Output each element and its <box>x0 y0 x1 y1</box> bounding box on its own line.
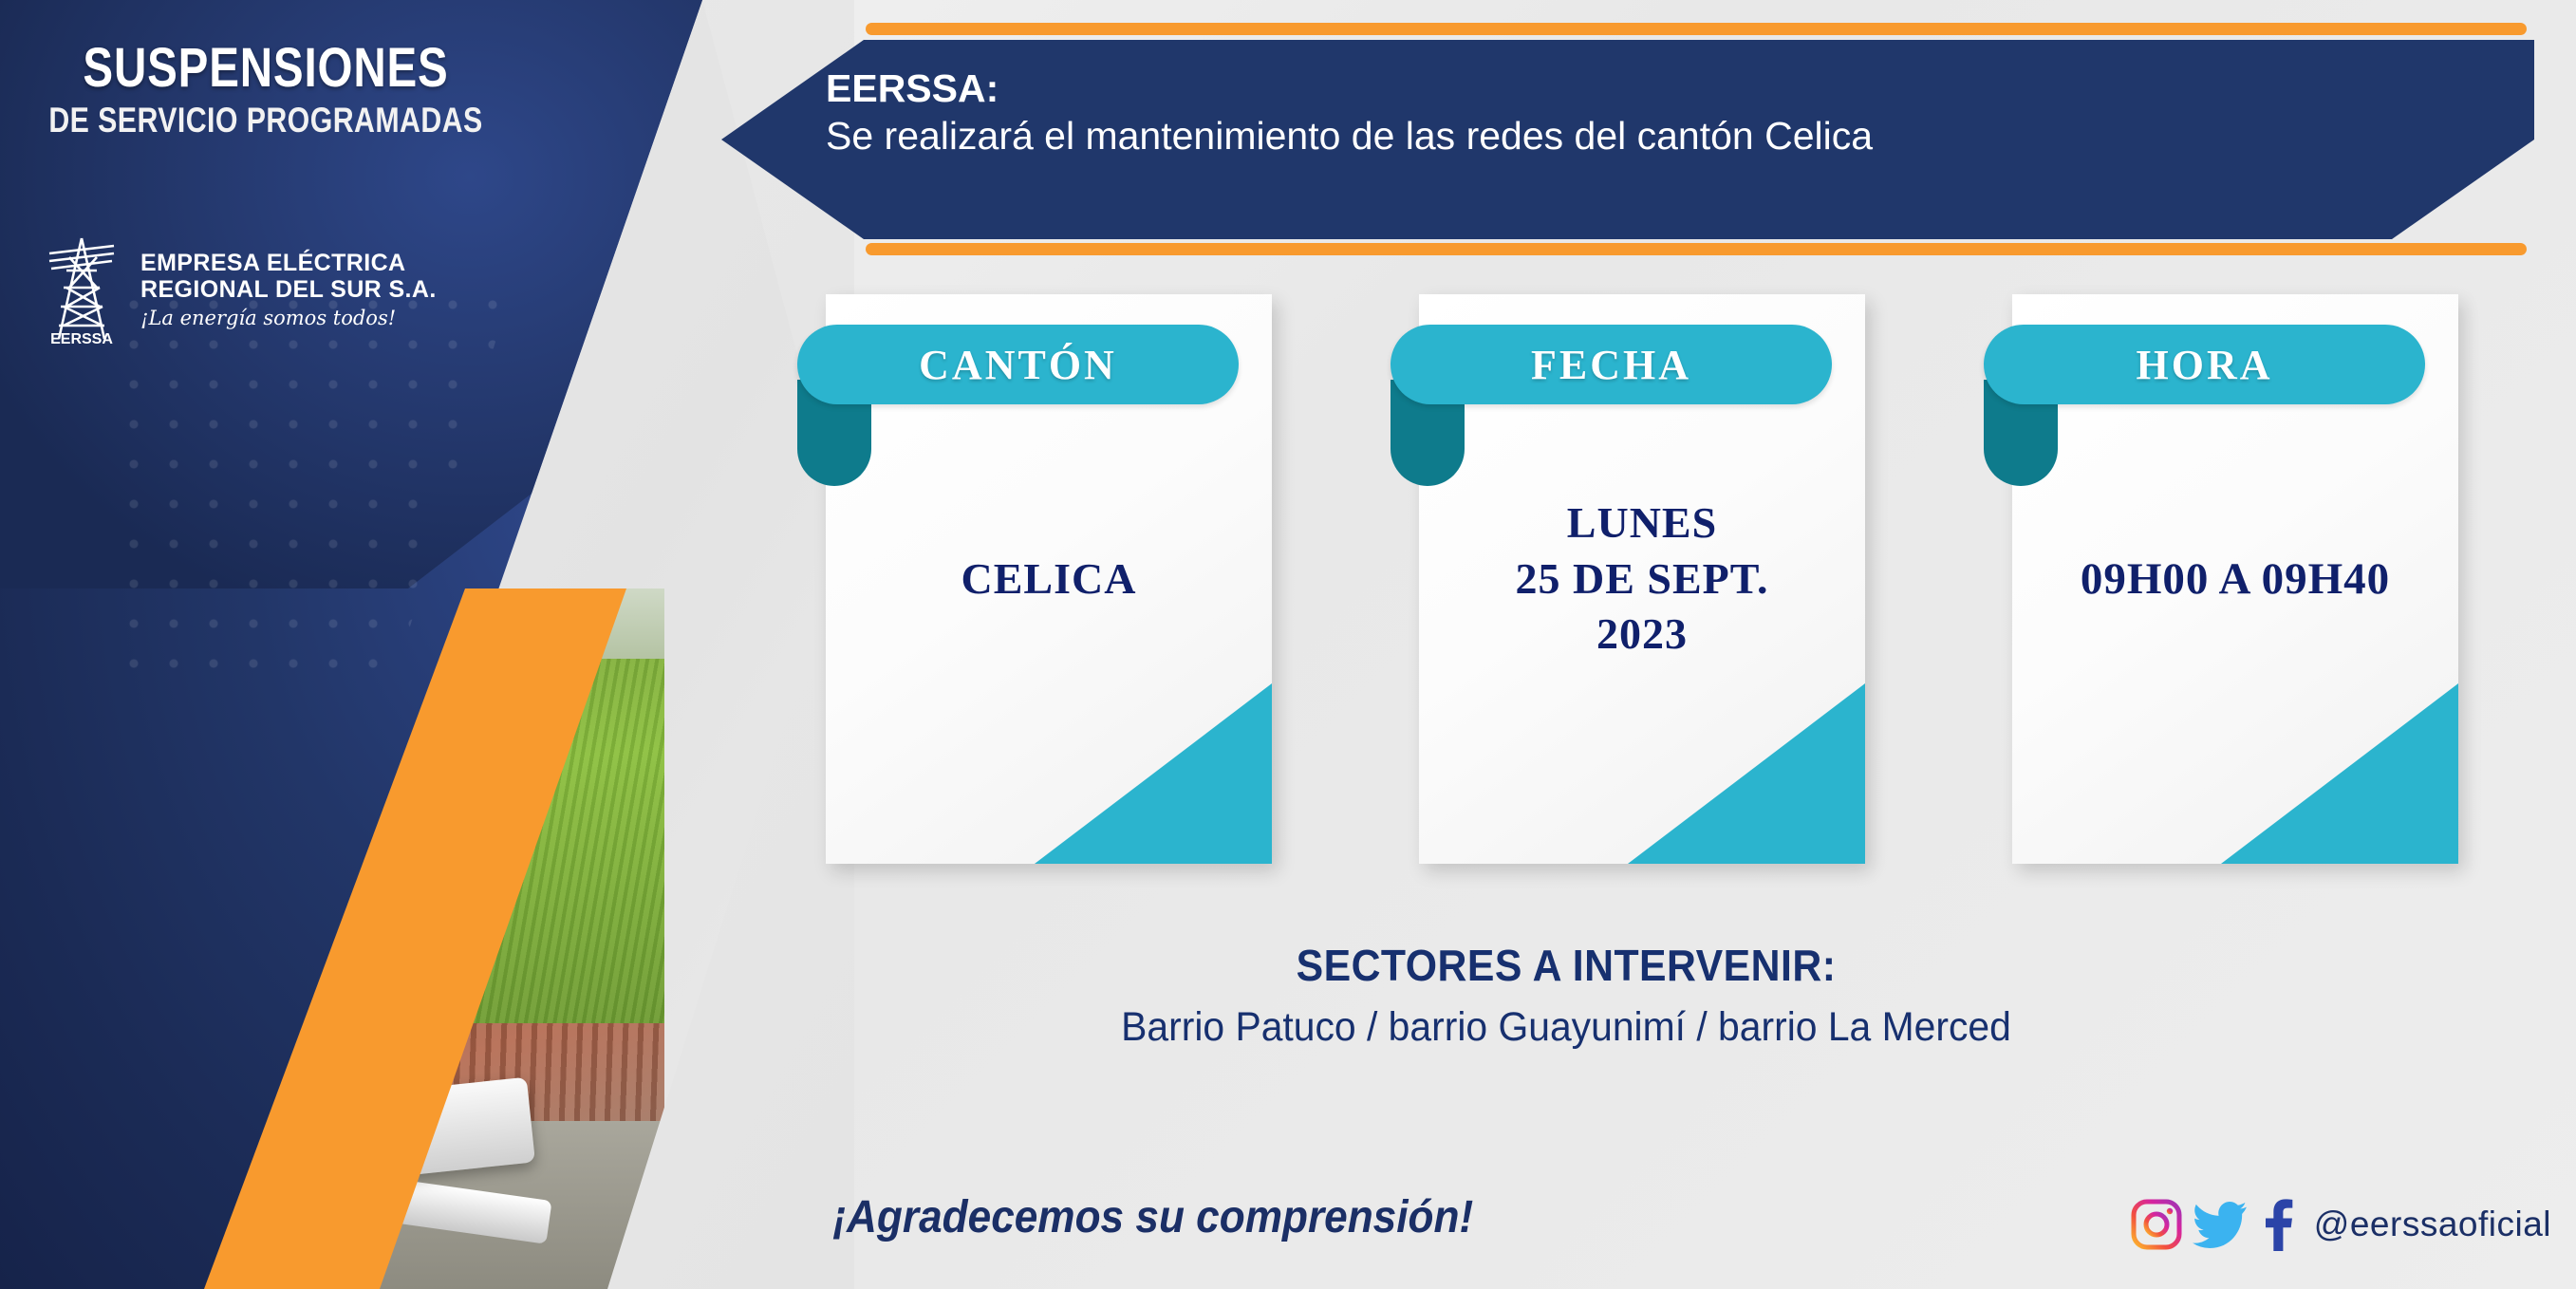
card-fecha: LUNES 25 DE SEPT. 2023 FECHA <box>1391 294 1837 883</box>
sectors-list: Barrio Patuco / barrio Guayunimí / barri… <box>710 1004 2423 1051</box>
social-handle[interactable]: @eerssaoficial <box>2314 1205 2551 1244</box>
sectors-heading: SECTORES A INTERVENIR: <box>728 940 2405 991</box>
card-header-label: CANTÓN <box>919 341 1117 389</box>
card-corner-accent <box>1035 683 1272 864</box>
card-corner-accent <box>1628 683 1865 864</box>
card-hora: 09H00 A 09H40 HORA <box>1984 294 2430 883</box>
company-name-line1: EMPRESA ELÉCTRICA <box>140 250 437 276</box>
card-header-label: HORA <box>2137 341 2273 389</box>
transmission-tower-icon: EERSSA <box>38 233 125 346</box>
card-canton: CELICA CANTÓN <box>797 294 1243 883</box>
info-card-group: CELICA CANTÓN LUNES 25 DE SEPT. 2023 FEC… <box>740 294 2525 883</box>
thanks-message: ¡Agradecemos su comprensión! <box>832 1191 1473 1243</box>
banner-rule-bottom <box>866 243 2527 255</box>
poster-subtitle: DE SERVICIO PROGRAMADAS <box>47 101 483 140</box>
company-slogan: ¡La energía somos todos! <box>140 307 437 329</box>
social-links: @eerssaoficial <box>2130 1198 2551 1251</box>
announcement-text: EERSSA: Se realizará el mantenimiento de… <box>826 65 2344 159</box>
eerssa-wordmark: EERSSA <box>50 331 113 346</box>
card-header-hora: HORA <box>1984 325 2425 404</box>
card-header-label: FECHA <box>1531 341 1691 389</box>
eerssa-logo-text: EMPRESA ELÉCTRICA REGIONAL DEL SUR S.A. … <box>140 250 437 329</box>
card-header-canton: CANTÓN <box>797 325 1239 404</box>
banner-rule-top <box>866 23 2527 35</box>
left-brand-panel: SUSPENSIONES DE SERVICIO PROGRAMADAS <box>0 0 854 1289</box>
suspension-notice-poster: SUSPENSIONES DE SERVICIO PROGRAMADAS <box>0 0 2576 1289</box>
twitter-icon[interactable] <box>2193 1198 2248 1251</box>
announcement-org: EERSSA: <box>826 65 2344 112</box>
company-name-line2: REGIONAL DEL SUR S.A. <box>140 276 437 303</box>
eerssa-logo: EERSSA EMPRESA ELÉCTRICA REGIONAL DEL SU… <box>38 233 513 346</box>
card-header-fecha: FECHA <box>1391 325 1832 404</box>
facebook-icon[interactable] <box>2257 1198 2297 1251</box>
instagram-icon[interactable] <box>2130 1198 2183 1251</box>
announcement-body: Se realizará el mantenimiento de las red… <box>826 112 2344 159</box>
card-corner-accent <box>2221 683 2458 864</box>
poster-title: SUSPENSIONES <box>47 36 483 100</box>
